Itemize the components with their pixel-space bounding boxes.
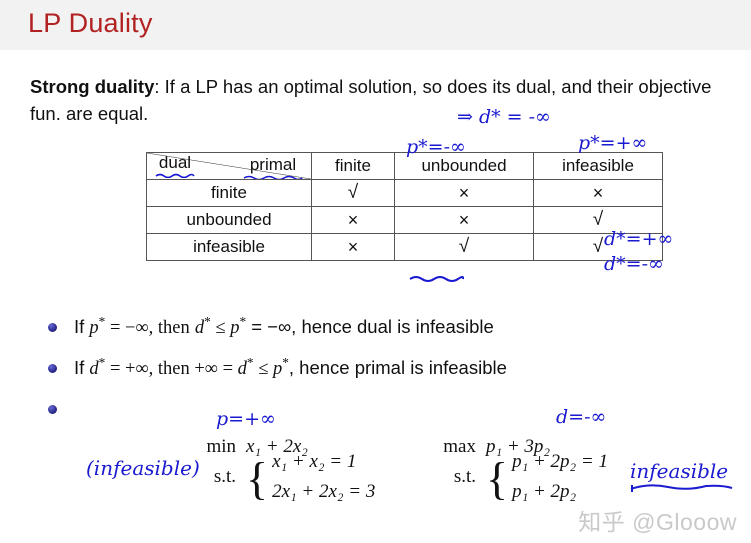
row-header-finite: finite: [147, 180, 312, 207]
cell-infeasible-infeasible: √: [534, 234, 663, 261]
primal-constraint-1: x₁ + x₂ = 1: [272, 447, 375, 477]
annotation-infeasible-left: (infeasible): [86, 456, 200, 480]
primal-objective-keyword: min: [190, 436, 246, 458]
row-header-unbounded: unbounded: [147, 207, 312, 234]
corner-dual-label: dual: [155, 153, 195, 178]
cell-infeasible-unbounded: √: [395, 234, 534, 261]
list-item: If p* = −∞, then d* ≤ p* = −∞, hence dua…: [48, 314, 738, 355]
annotation-p-star-pos-inf: p*=+∞: [578, 132, 647, 154]
cell-unbounded-infeasible: √: [534, 207, 663, 234]
cell-infeasible-finite: ×: [312, 234, 395, 261]
watermark: 知乎 @Glooow: [578, 503, 737, 537]
dual-constraint-1: p₁ + 2p₂ = 1: [512, 447, 608, 477]
bullet-dot-icon: [48, 405, 57, 414]
cell-finite-unbounded: ×: [395, 180, 534, 207]
list-item: [48, 396, 738, 437]
corner-primal-label: primal: [243, 155, 303, 180]
squiggle-underline-primal-icon: [243, 175, 303, 180]
row-header-infeasible: infeasible: [147, 234, 312, 261]
column-header-finite: finite: [312, 153, 395, 180]
squiggle-underline-dual-icon: [155, 173, 195, 178]
dual-constraints-row: s.t. { p₁ + 2p₂ = 1 p₁ + 2p₂: [430, 462, 608, 492]
cell-finite-finite: √: [312, 180, 395, 207]
bullet-dot-icon: [48, 364, 57, 373]
dual-constraint-list: p₁ + 2p₂ = 1 p₁ + 2p₂: [512, 447, 608, 507]
cell-unbounded-unbounded: ×: [395, 207, 534, 234]
table-row: unbounded × × √: [147, 207, 663, 234]
column-header-unbounded: unbounded: [395, 153, 534, 180]
primal-lp-block: min x₁ + 2x₂ s.t. { x₁ + x₂ = 1 2x₁ + 2x…: [190, 432, 375, 492]
column-header-infeasible: infeasible: [534, 153, 663, 180]
table-corner-cell: primal dual: [147, 153, 312, 180]
dual-st-keyword: s.t.: [430, 466, 486, 488]
page-title: LP Duality: [28, 8, 153, 39]
primal-st-keyword: s.t.: [190, 466, 246, 488]
bullet-dot-icon: [48, 323, 57, 332]
primal-constraint-2: 2x₁ + 2x₂ = 3: [272, 477, 375, 507]
list-item: If d* = +∞, then +∞ = d* ≤ p*, hence pri…: [48, 355, 738, 396]
table-header-row: primal dual finite unbounded infeasible: [147, 153, 663, 180]
cell-unbounded-finite: ×: [312, 207, 395, 234]
primal-constraints-row: s.t. { x₁ + x₂ = 1 2x₁ + 2x₂ = 3: [190, 462, 375, 492]
table-row: finite √ × ×: [147, 180, 663, 207]
statement-lead: Strong duality: [30, 76, 154, 97]
bullet-2-text: If d* = +∞, then +∞ = d* ≤ p*, hence pri…: [74, 355, 507, 380]
squiggle-underline-cell-icon: [408, 274, 464, 283]
slide: LP Duality Strong duality: If a LP has a…: [0, 0, 751, 543]
squiggle-underline-infeasible-icon: [628, 480, 736, 494]
primal-constraint-list: x₁ + x₂ = 1 2x₁ + 2x₂ = 3: [272, 447, 375, 507]
strong-duality-statement: Strong duality: If a LP has an optimal s…: [30, 74, 730, 128]
dual-objective-keyword: max: [430, 436, 486, 458]
dual-lp-block: max p₁ + 3p₂ s.t. { p₁ + 2p₂ = 1 p₁ + 2p…: [430, 432, 608, 492]
cell-finite-infeasible: ×: [534, 180, 663, 207]
bullet-list: If p* = −∞, then d* ≤ p* = −∞, hence dua…: [48, 314, 738, 437]
bullet-1-text: If p* = −∞, then d* ≤ p* = −∞, hence dua…: [74, 314, 494, 339]
annotation-infeasible-right: infeasible: [630, 459, 728, 483]
table-row: infeasible × √ √: [147, 234, 663, 261]
duality-outcome-table: primal dual finite unbounded infeasible …: [146, 152, 663, 261]
